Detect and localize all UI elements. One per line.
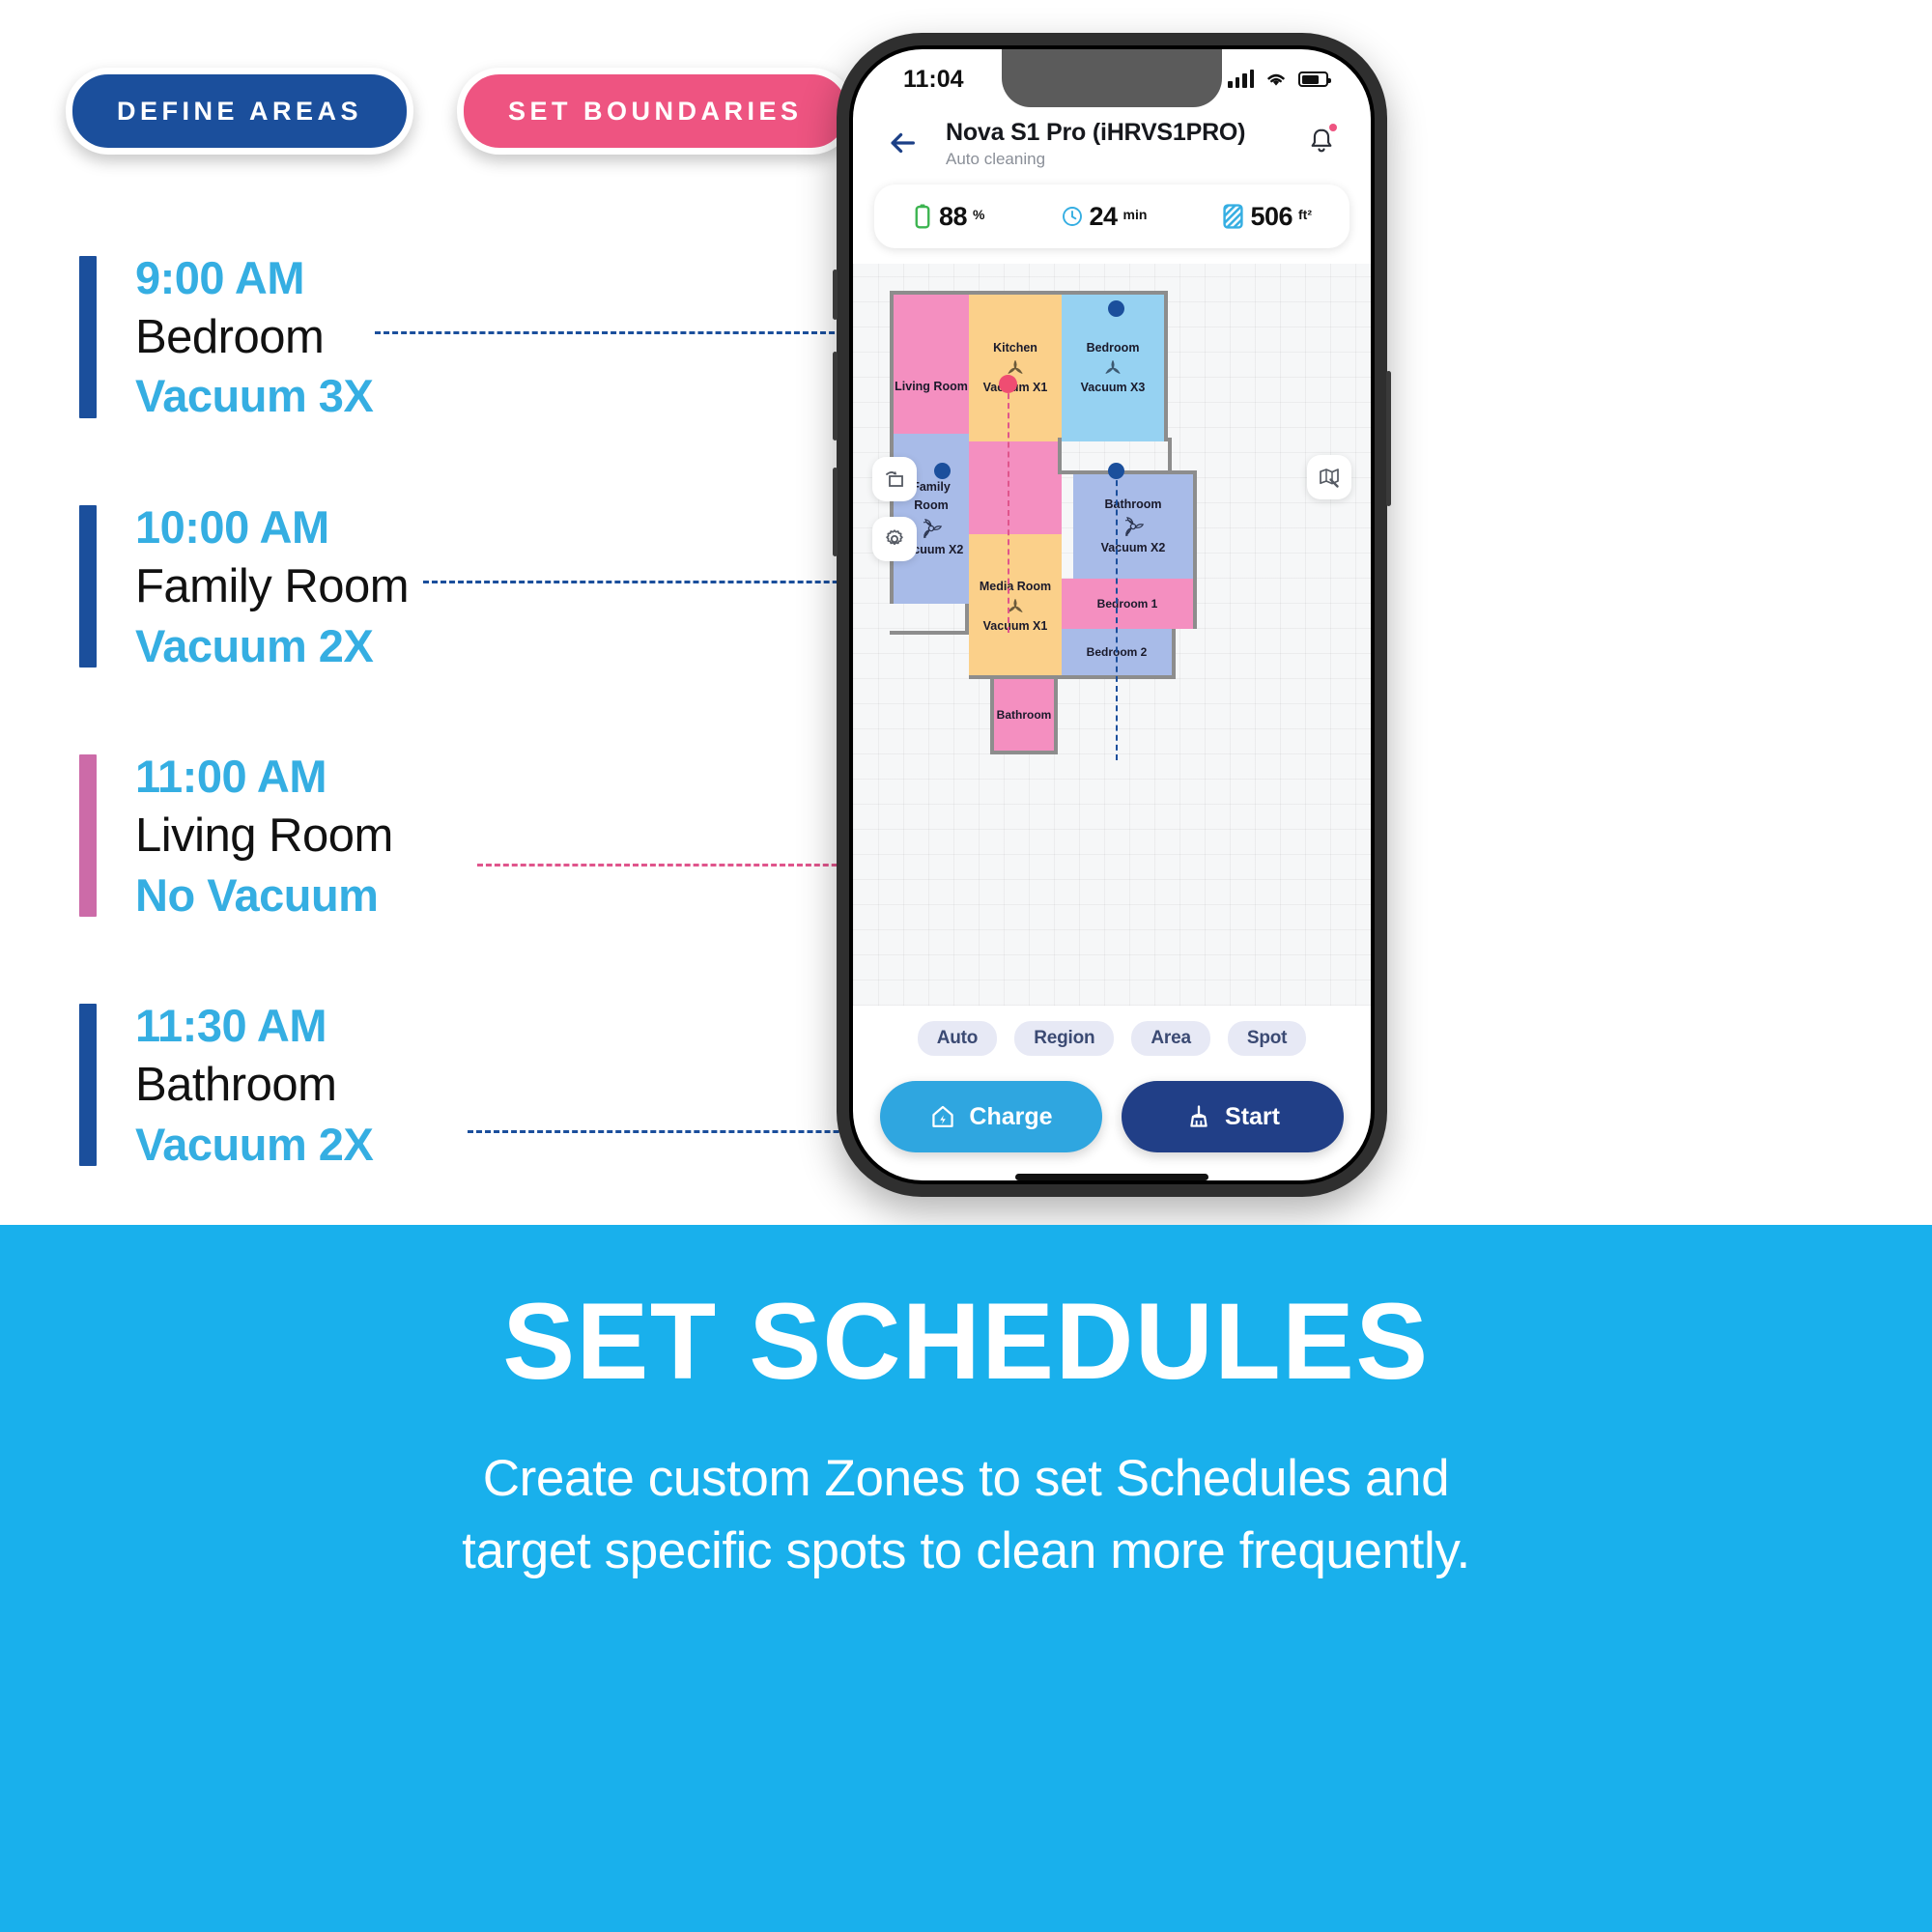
phone-screen: 11:04 Nova S1 Pro (iHRVS1PRO) xyxy=(853,49,1371,1180)
cleaning-mode-chips: Auto Region Area Spot xyxy=(853,1006,1371,1056)
schedule-room: Bathroom xyxy=(135,1055,697,1116)
schedule-item[interactable]: 11:00 AM Living Room No Vacuum xyxy=(79,748,697,923)
mode-chip-auto[interactable]: Auto xyxy=(918,1021,997,1056)
waypoint-dot-bedroom[interactable] xyxy=(1108,300,1124,317)
notification-bell-button[interactable] xyxy=(1305,125,1338,157)
room-media-room[interactable]: Media Room Vacuum X1 xyxy=(969,534,1062,679)
start-button-label: Start xyxy=(1225,1103,1280,1131)
schedule-item[interactable]: 9:00 AM Bedroom Vacuum 3X xyxy=(79,249,697,425)
room-kitchen-label: Kitchen xyxy=(993,339,1037,357)
category-pills: DEFINE AREAS SET BOUNDARIES xyxy=(66,68,854,155)
stat-battery-value: 88 xyxy=(939,202,967,232)
schedule-item[interactable]: 10:00 AM Family Room Vacuum 2X xyxy=(79,498,697,674)
schedule-list: 9:00 AM Bedroom Vacuum 3X 10:00 AM Famil… xyxy=(79,249,697,1173)
mode-chip-area[interactable]: Area xyxy=(1131,1021,1209,1056)
page-subtitle: Auto cleaning xyxy=(946,150,1284,169)
room-bedroom-mode: Vacuum X3 xyxy=(1081,379,1146,397)
banner-subtitle-line2: target specific spots to clean more freq… xyxy=(462,1515,1470,1587)
schedule-mode: Vacuum 2X xyxy=(135,617,697,675)
bottom-banner: SET SCHEDULES Create custom Zones to set… xyxy=(0,1225,1932,1932)
room-bathroom-right[interactable]: Bathroom Vacuum X2 xyxy=(1073,470,1197,579)
schedule-mode: Vacuum 3X xyxy=(135,367,697,425)
vacuum-single-icon xyxy=(1101,358,1124,378)
banner-title: SET SCHEDULES xyxy=(502,1279,1429,1404)
settings-gear-icon xyxy=(883,527,906,551)
signal-bars-icon xyxy=(1228,71,1254,88)
clock-icon xyxy=(1061,205,1084,228)
stat-battery: 88 % xyxy=(912,202,985,232)
status-bar: 11:04 xyxy=(853,49,1371,109)
add-zone-icon xyxy=(883,468,906,491)
schedule-time: 10:00 AM xyxy=(135,498,697,556)
schedule-room: Bedroom xyxy=(135,307,697,368)
vacuum-triple-icon xyxy=(1121,515,1146,538)
schedule-accent-bar xyxy=(79,256,97,418)
stat-battery-unit: % xyxy=(973,207,984,222)
mode-chip-spot[interactable]: Spot xyxy=(1228,1021,1306,1056)
phone-mockup: 11:04 Nova S1 Pro (iHRVS1PRO) xyxy=(837,33,1387,1197)
room-bedroom-2[interactable]: Bedroom 2 xyxy=(1062,629,1176,679)
charge-button[interactable]: Charge xyxy=(880,1081,1102,1152)
tracking-line-bedroom xyxy=(1116,470,1118,760)
schedule-time: 11:30 AM xyxy=(135,997,697,1055)
schedule-time: 11:00 AM xyxy=(135,748,697,806)
room-media-room-mode: Vacuum X1 xyxy=(983,617,1048,636)
room-bathroom-bottom-label: Bathroom xyxy=(997,706,1052,724)
area-icon xyxy=(1222,203,1244,230)
schedule-accent-bar xyxy=(79,1004,97,1166)
room-media-room-label: Media Room xyxy=(980,578,1051,596)
map-settings-button[interactable] xyxy=(872,517,917,561)
floorplan: Living Room Kitchen Vacuum X1 Bedroom xyxy=(890,291,1295,774)
start-button[interactable]: Start xyxy=(1122,1081,1344,1152)
add-zone-button[interactable] xyxy=(872,457,917,501)
stat-time: 24 min xyxy=(1061,202,1148,232)
battery-icon xyxy=(1298,71,1328,87)
floorplan-outline xyxy=(890,631,969,635)
back-arrow-icon[interactable] xyxy=(886,127,919,159)
stats-bar: 88 % 24 min xyxy=(874,185,1350,248)
banner-subtitle: Create custom Zones to set Schedules and… xyxy=(462,1442,1470,1588)
charge-button-label: Charge xyxy=(969,1103,1052,1131)
schedule-mode: Vacuum 2X xyxy=(135,1116,697,1174)
waypoint-dot-bathroom[interactable] xyxy=(1108,463,1124,479)
phone-volume-down-button xyxy=(833,468,838,556)
stat-time-unit: min xyxy=(1123,207,1148,222)
pill-set-boundaries[interactable]: SET BOUNDARIES xyxy=(457,68,854,155)
stat-area: 506 ft² xyxy=(1222,202,1312,232)
stat-area-value: 506 xyxy=(1250,202,1293,232)
schedule-room: Living Room xyxy=(135,806,697,867)
map-edit-button[interactable] xyxy=(1307,455,1351,499)
room-bedroom-1[interactable]: Bedroom 1 xyxy=(1062,579,1197,629)
charge-dock-icon xyxy=(929,1103,956,1130)
page-title: Nova S1 Pro (iHRVS1PRO) xyxy=(946,119,1284,147)
schedule-mode: No Vacuum xyxy=(135,867,697,924)
stats-bar-wrapper: 88 % 24 min xyxy=(853,185,1371,248)
home-indicator xyxy=(1015,1174,1208,1180)
pill-set-boundaries-label: SET BOUNDARIES xyxy=(508,97,803,127)
banner-subtitle-line1: Create custom Zones to set Schedules and xyxy=(462,1442,1470,1515)
phone-silent-switch xyxy=(833,270,838,320)
waypoint-dot-family-room[interactable] xyxy=(934,463,951,479)
room-bathroom-bottom[interactable]: Bathroom xyxy=(990,679,1058,754)
schedule-room: Family Room xyxy=(135,556,697,617)
broom-icon xyxy=(1185,1103,1212,1130)
room-living-room-label: Living Room xyxy=(895,378,968,396)
room-bedroom-label: Bedroom xyxy=(1087,339,1140,357)
room-bathroom-right-mode: Vacuum X2 xyxy=(1101,539,1166,557)
waypoint-dot-living-room[interactable] xyxy=(999,375,1017,393)
battery-icon xyxy=(912,202,933,231)
pill-define-areas[interactable]: DEFINE AREAS xyxy=(66,68,413,155)
status-bar-time: 11:04 xyxy=(903,66,964,94)
pill-define-areas-label: DEFINE AREAS xyxy=(117,97,362,127)
phone-power-button xyxy=(1386,371,1391,506)
schedule-accent-bar xyxy=(79,505,97,668)
vacuum-triple-icon xyxy=(919,517,944,540)
room-bathroom-right-label: Bathroom xyxy=(1104,496,1161,514)
schedule-time: 9:00 AM xyxy=(135,249,697,307)
room-kitchen[interactable]: Kitchen Vacuum X1 xyxy=(969,291,1062,441)
room-bedroom-1-label: Bedroom 1 xyxy=(1097,595,1158,613)
schedule-item[interactable]: 11:30 AM Bathroom Vacuum 2X xyxy=(79,997,697,1173)
app-header: Nova S1 Pro (iHRVS1PRO) Auto cleaning xyxy=(853,109,1371,185)
wifi-icon xyxy=(1264,71,1288,88)
notification-badge-dot xyxy=(1329,124,1337,131)
action-buttons: Charge Start xyxy=(853,1056,1371,1152)
schedule-accent-bar xyxy=(79,754,97,917)
floor-map[interactable]: Living Room Kitchen Vacuum X1 Bedroom xyxy=(853,264,1371,1006)
stat-time-value: 24 xyxy=(1090,202,1118,232)
stat-area-unit: ft² xyxy=(1298,207,1312,222)
tracking-line-living-room xyxy=(1008,384,1009,633)
map-edit-icon xyxy=(1318,466,1341,489)
floorplan-outline xyxy=(1168,438,1172,474)
mode-chip-region[interactable]: Region xyxy=(1014,1021,1114,1056)
phone-volume-up-button xyxy=(833,352,838,440)
